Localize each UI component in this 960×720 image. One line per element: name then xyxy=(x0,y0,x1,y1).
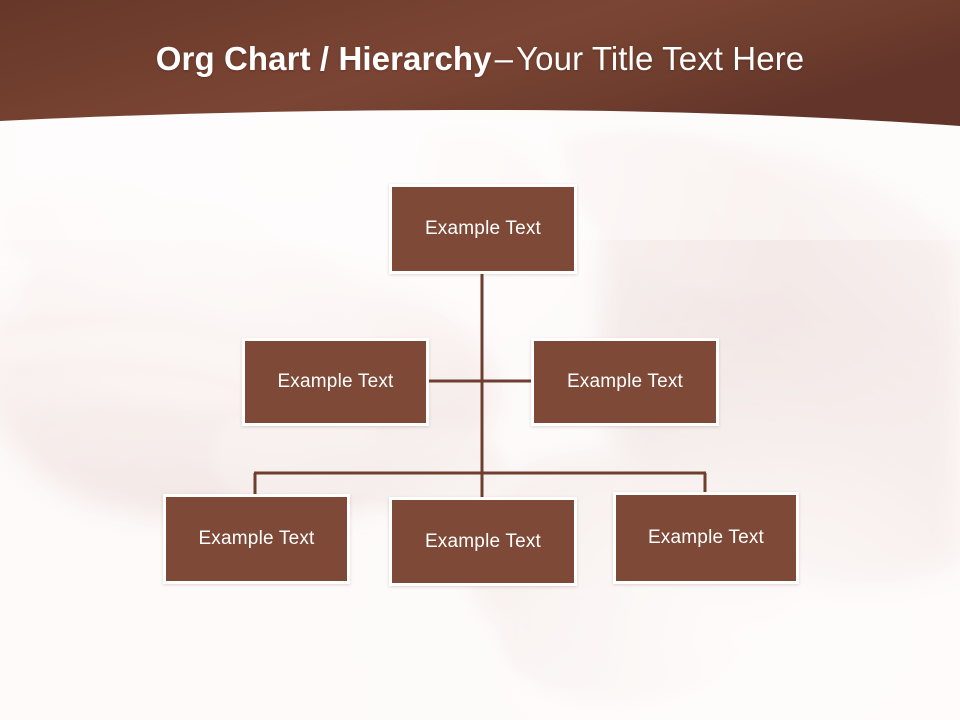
org-node-label: Example Text xyxy=(277,371,393,393)
org-node-label: Example Text xyxy=(425,218,541,240)
org-node-top[interactable]: Example Text xyxy=(389,184,577,274)
page-title-light: Your Title Text Here xyxy=(516,40,804,78)
page-title-separator: – xyxy=(492,40,516,78)
org-node-bottom-left[interactable]: Example Text xyxy=(163,494,350,584)
slide-header-band: Org Chart / Hierarchy – Your Title Text … xyxy=(0,0,960,135)
slide-canvas: Org Chart / Hierarchy – Your Title Text … xyxy=(0,0,960,720)
org-node-bottom-right[interactable]: Example Text xyxy=(613,492,799,584)
org-node-mid-left[interactable]: Example Text xyxy=(242,338,429,426)
org-node-label: Example Text xyxy=(648,527,764,549)
org-node-label: Example Text xyxy=(198,528,314,550)
org-node-mid-right[interactable]: Example Text xyxy=(531,338,719,426)
org-node-bottom-center[interactable]: Example Text xyxy=(389,497,577,586)
page-title-bold: Org Chart / Hierarchy xyxy=(156,40,492,78)
org-node-label: Example Text xyxy=(425,531,541,553)
page-title: Org Chart / Hierarchy – Your Title Text … xyxy=(0,0,960,118)
org-node-label: Example Text xyxy=(567,371,683,393)
